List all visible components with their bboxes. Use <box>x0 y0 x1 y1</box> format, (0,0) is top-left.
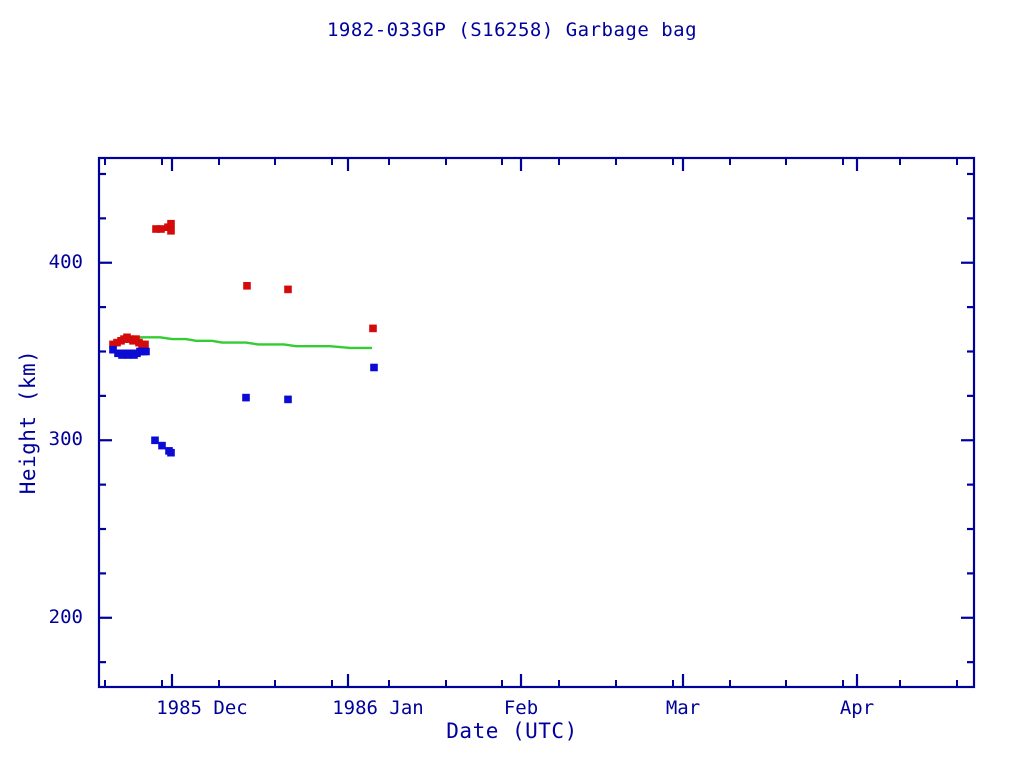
x-tick-labels: 1985 Dec1986 JanFebMarApr <box>0 0 1024 768</box>
x-tick-label: 1985 Dec <box>102 697 302 719</box>
x-tick-label: Apr <box>757 697 957 719</box>
x-tick-label: Mar <box>583 697 783 719</box>
chart-figure: 1982-033GP (S16258) Garbage bag Height (… <box>0 0 1024 768</box>
